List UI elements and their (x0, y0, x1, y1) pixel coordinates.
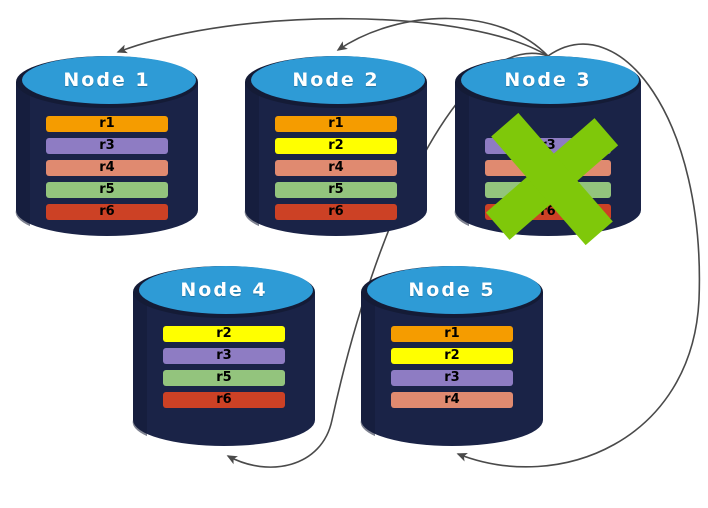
replica-bar-r2[interactable]: r2 (391, 348, 513, 364)
replica-bar-r1[interactable]: r1 (391, 326, 513, 342)
replica-bar-r6[interactable]: r6 (46, 204, 168, 220)
node-cylinder-1[interactable]: Node 1r1r3r4r5r6 (16, 56, 198, 236)
node-cylinder-2[interactable]: Node 2r1r2r4r5r6 (245, 56, 427, 236)
cylinder-side-shade (455, 82, 469, 226)
replica-bar-r3[interactable]: r3 (46, 138, 168, 154)
replica-bar-r4[interactable]: r4 (485, 160, 611, 176)
node-layer: Node 1r1r3r4r5r6Node 2r1r2r4r5r6Node 3r3… (0, 0, 708, 508)
replica-bar-r6[interactable]: r6 (485, 204, 611, 220)
replica-bar-r4[interactable]: r4 (275, 160, 397, 176)
replica-bar-r3[interactable]: r3 (391, 370, 513, 386)
node-label: Node 2 (245, 69, 427, 91)
diagram-canvas: Node 1r1r3r4r5r6Node 2r1r2r4r5r6Node 3r3… (0, 0, 708, 508)
replica-bar-r6[interactable]: r6 (275, 204, 397, 220)
cylinder-side-shade (133, 292, 147, 436)
replica-bar-r3[interactable]: r3 (485, 138, 611, 154)
replica-bar-r5[interactable]: r5 (163, 370, 285, 386)
cylinder-side-shade (245, 82, 259, 226)
node-label: Node 4 (133, 279, 315, 301)
node-label: Node 3 (455, 69, 641, 91)
replica-bar-r3[interactable]: r3 (163, 348, 285, 364)
replica-bar-r1[interactable]: r1 (46, 116, 168, 132)
replica-bar-r5[interactable]: r5 (485, 182, 611, 198)
node-cylinder-5[interactable]: Node 5r1r2r3r4 (361, 266, 543, 446)
node-label: Node 1 (16, 69, 198, 91)
cylinder-side-shade (16, 82, 30, 226)
node-label: Node 5 (361, 279, 543, 301)
replica-bar-r4[interactable]: r4 (46, 160, 168, 176)
node-cylinder-4[interactable]: Node 4r2r3r5r6 (133, 266, 315, 446)
replica-bar-r4[interactable]: r4 (391, 392, 513, 408)
replica-bar-r5[interactable]: r5 (275, 182, 397, 198)
cylinder-side-shade (361, 292, 375, 436)
replica-bar-r2[interactable]: r2 (275, 138, 397, 154)
replica-bar-r5[interactable]: r5 (46, 182, 168, 198)
node-cylinder-3[interactable]: Node 3r3r4r5r6 (455, 56, 641, 236)
replica-bar-r2[interactable]: r2 (163, 326, 285, 342)
replica-bar-r1[interactable]: r1 (275, 116, 397, 132)
replica-bar-r6[interactable]: r6 (163, 392, 285, 408)
